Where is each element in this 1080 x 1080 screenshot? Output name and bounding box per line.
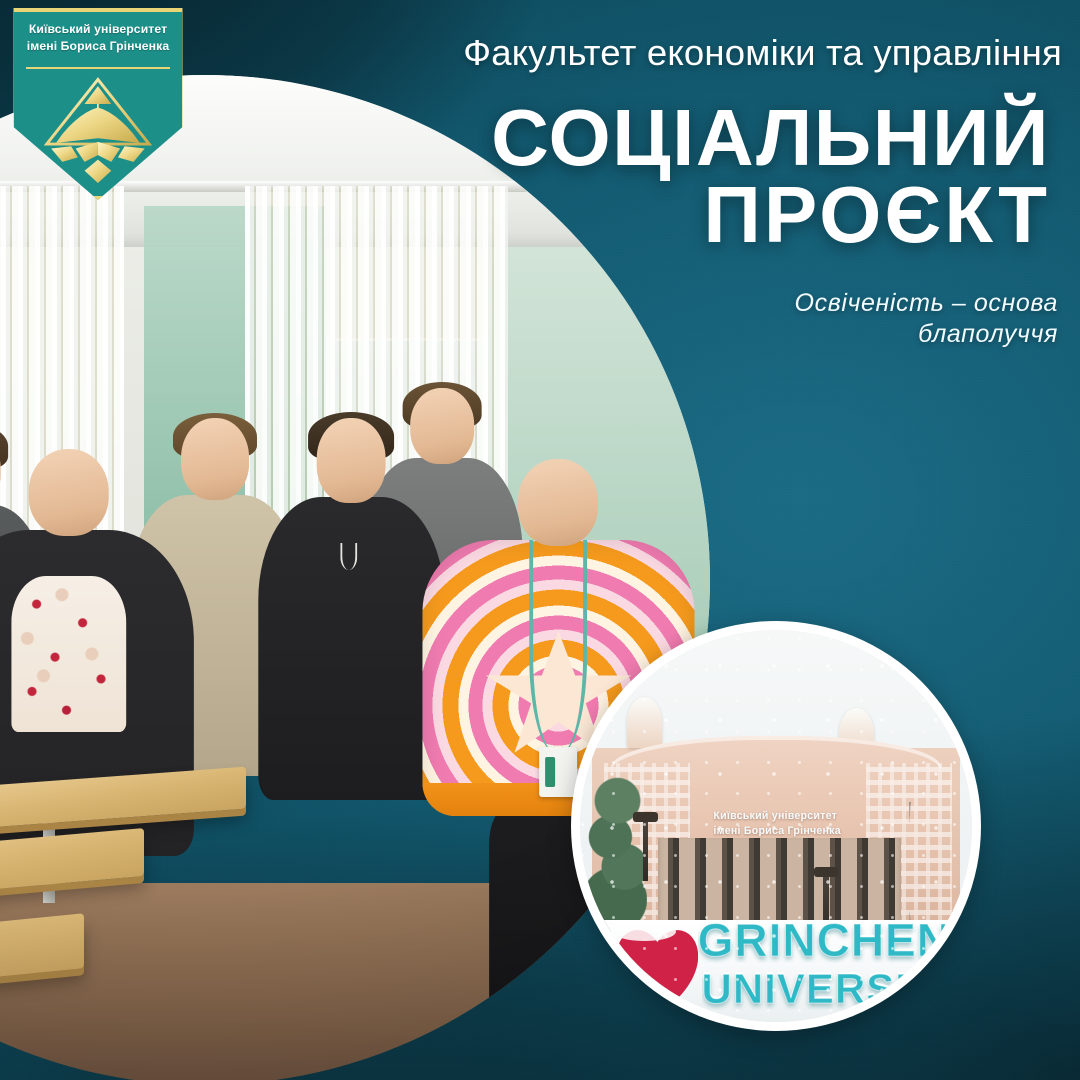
faculty-kicker: Факультет економіки та управління [463,32,1062,74]
id-badge [540,747,578,797]
head [317,418,386,503]
page-title-line2: ПРОЄКТ [491,177,1050,254]
social-project-poster: Київський університет імені Бориса Грінч… [0,0,1080,1080]
page-title: СОЦІАЛЬНИЙ ПРОЄКТ [491,100,1050,254]
bare-tree-icon [909,802,968,920]
person-teacher-floral-blouse [0,449,175,1075]
tagline-line1: Освіченість – основа [795,288,1058,319]
floral-blouse-pattern [11,576,126,732]
hoodie-drawstring [340,543,357,570]
university-logo[interactable]: Київський університет імені Бориса Грінч… [10,8,186,200]
tagline: Освіченість – основа блаполуччя [795,288,1058,349]
logo-text-line2: імені Бориса Грінченка [22,38,173,54]
head [28,449,109,537]
lanyard [530,540,588,753]
open-book-pyramid-emblem [24,75,172,186]
inset-photo-university-building: Київський університет імені Бориса Грінч… [571,621,981,1031]
street-lamp-icon [643,818,648,881]
inset-photo-inner: Київський університет імені Бориса Грінч… [580,630,972,1022]
head [518,459,598,547]
logo-text-line1: Київський університет [22,21,173,37]
ice-letters-line1: GRINCHENKO [698,917,972,963]
fir-tree-icon [588,771,647,936]
logo-divider [26,67,170,69]
head [181,418,249,500]
ice-letters-line2: UNIVERSITY [702,968,964,1010]
torso [259,497,444,800]
building-signage: Київський університет імені Бориса Грінч… [713,809,878,839]
building-signage-line1: Київський університет [713,809,878,824]
person-boy-black-hoodie [266,418,438,1024]
tagline-line2: блаполуччя [795,319,1058,350]
page-title-line1: СОЦІАЛЬНИЙ [491,93,1050,182]
building-tower [627,697,662,748]
logo-text: Київський університет імені Бориса Грінч… [22,21,173,54]
